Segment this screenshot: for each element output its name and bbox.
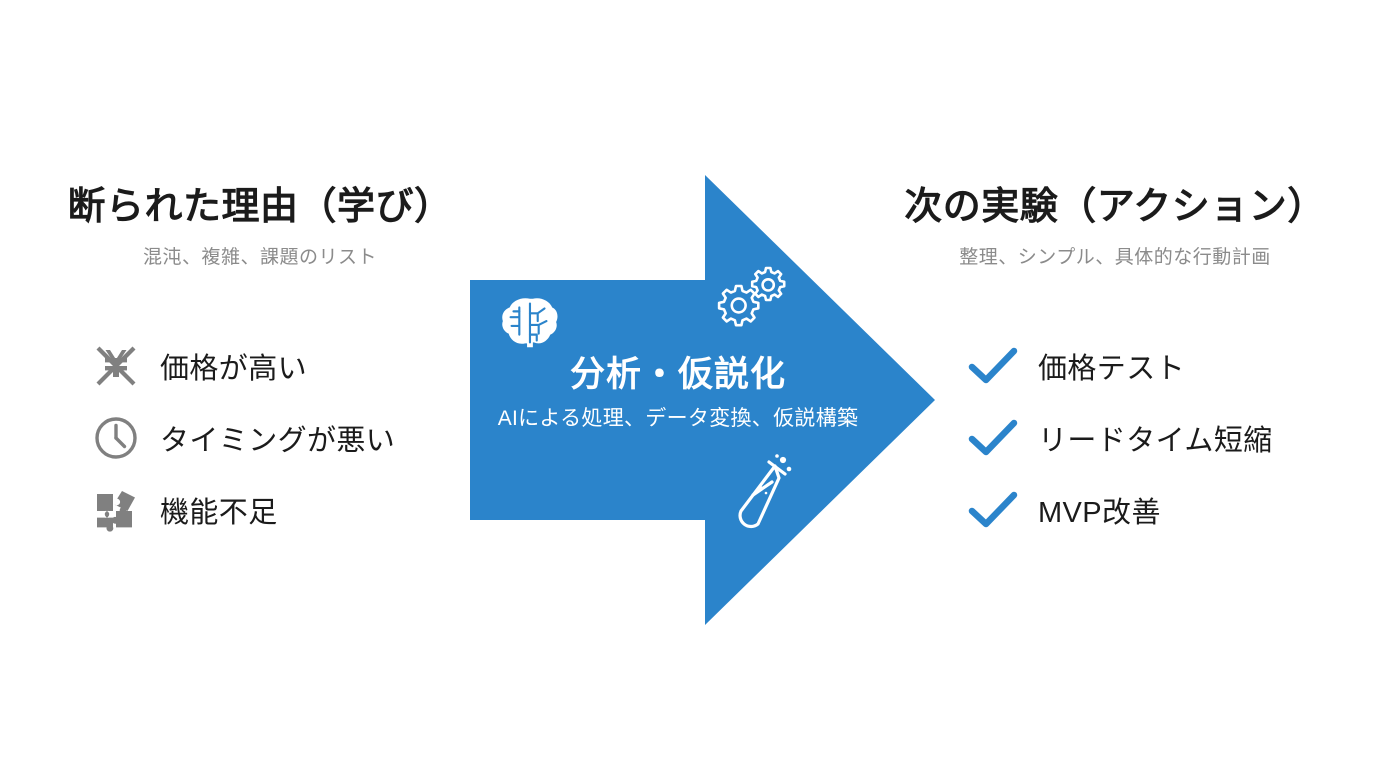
clock-icon xyxy=(88,412,144,464)
puzzle-missing-piece-icon xyxy=(88,484,144,536)
list-item-label: リードタイム短縮 xyxy=(1038,417,1273,459)
check-icon xyxy=(962,484,1024,536)
yen-crossed-out-icon xyxy=(88,340,144,392)
list-item: 機能不足 xyxy=(88,474,395,546)
list-item: 価格が高い xyxy=(88,330,395,402)
left-column-heading: 断られた理由（学び） 混沌、複雑、課題のリスト xyxy=(40,186,480,269)
process-arrow: 分析・仮説化 AIによる処理、データ変換、仮説構築 xyxy=(468,172,938,628)
right-column-heading: 次の実験（アクション） 整理、シンプル、具体的な行動計画 xyxy=(895,186,1335,269)
arrow-text-block: 分析・仮説化 AIによる処理、データ変換、仮説構築 xyxy=(468,354,888,432)
right-actions-list: 価格テスト リードタイム短縮 MVP改善 xyxy=(962,330,1273,546)
slide-canvas: 断られた理由（学び） 混沌、複雑、課題のリスト xyxy=(0,0,1376,768)
test-tube-icon xyxy=(723,454,793,532)
brain-icon xyxy=(498,292,560,354)
right-column-title: 次の実験（アクション） xyxy=(895,186,1335,230)
left-reasons-list: 価格が高い タイミングが悪い xyxy=(88,330,395,546)
check-icon xyxy=(962,412,1024,464)
check-icon xyxy=(962,340,1024,392)
left-column-subtitle: 混沌、複雑、課題のリスト xyxy=(40,242,480,269)
gears-icon xyxy=(716,258,788,330)
left-column-title: 断られた理由（学び） xyxy=(40,186,480,230)
arrow-title: 分析・仮説化 xyxy=(468,354,888,396)
arrow-subtitle: AIによる処理、データ変換、仮説構築 xyxy=(468,402,888,432)
list-item-label: 機能不足 xyxy=(160,489,278,531)
list-item-label: 価格が高い xyxy=(160,345,307,387)
list-item: MVP改善 xyxy=(962,474,1273,546)
list-item: 価格テスト xyxy=(962,330,1273,402)
list-item: リードタイム短縮 xyxy=(962,402,1273,474)
right-column-subtitle: 整理、シンプル、具体的な行動計画 xyxy=(895,242,1335,269)
list-item-label: 価格テスト xyxy=(1038,345,1185,387)
list-item: タイミングが悪い xyxy=(88,402,395,474)
list-item-label: MVP改善 xyxy=(1038,489,1161,531)
list-item-label: タイミングが悪い xyxy=(160,417,395,459)
